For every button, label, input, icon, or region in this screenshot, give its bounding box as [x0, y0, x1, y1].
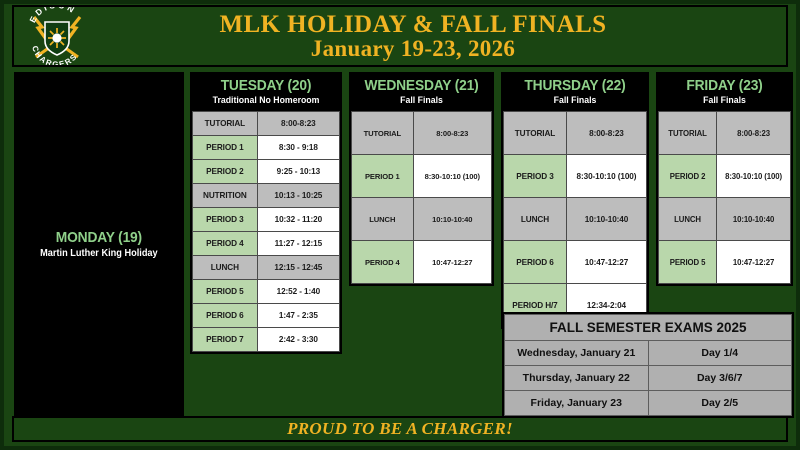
period-label: PERIOD 2 [659, 155, 717, 198]
period-time: 10:10-10:40 [413, 198, 491, 241]
period-label: PERIOD 2 [193, 160, 258, 184]
day-column-friday: FRIDAY (23) Fall Finals TUTORIAL8:00-8:2… [656, 72, 793, 286]
table-row: TUTORIAL8:00-8:23 [352, 112, 492, 155]
wednesday-note: Fall Finals [358, 95, 484, 106]
table-row: Thursday, January 22 Day 3/6/7 [505, 366, 792, 391]
period-time: 12:52 - 1:40 [257, 280, 339, 304]
wednesday-header: WEDNESDAY (21) Fall Finals [351, 74, 492, 111]
friday-day-label: FRIDAY (23) [665, 78, 784, 94]
exam-days: Day 2/5 [648, 391, 792, 416]
day-column-tuesday: TUESDAY (20) Traditional No Homeroom TUT… [190, 72, 342, 354]
table-row: TUTORIAL8:00-8:23 [659, 112, 791, 155]
period-time: 10:32 - 11:20 [257, 208, 339, 232]
tuesday-header: TUESDAY (20) Traditional No Homeroom [192, 74, 340, 111]
table-row: NUTRITION10:13 - 10:25 [193, 184, 340, 208]
period-time: 1:47 - 2:35 [257, 304, 339, 328]
period-label: PERIOD 6 [504, 241, 567, 284]
period-label: TUTORIAL [659, 112, 717, 155]
period-time: 10:47-12:27 [566, 241, 646, 284]
tuesday-note: Traditional No Homeroom [200, 95, 332, 106]
period-label: PERIOD 5 [193, 280, 258, 304]
tuesday-schedule-table: TUTORIAL8:00-8:23 PERIOD 18:30 - 9:18 PE… [192, 111, 340, 352]
exam-date: Thursday, January 22 [505, 366, 649, 391]
schedule-flyer: EDISON CHARGERS [0, 0, 800, 450]
page-title: MLK HOLIDAY & FALL FINALS [100, 12, 726, 38]
table-row: PERIOD 410:47-12:27 [352, 241, 492, 284]
table-row: PERIOD 29:25 - 10:13 [193, 160, 340, 184]
period-time: 12:15 - 12:45 [257, 256, 339, 280]
exams-title: FALL SEMESTER EXAMS 2025 [505, 315, 792, 341]
exam-date: Friday, January 23 [505, 391, 649, 416]
edison-chargers-shield-icon: EDISON CHARGERS [20, 7, 94, 65]
period-label: LUNCH [504, 198, 567, 241]
period-label: TUTORIAL [352, 112, 414, 155]
page-subtitle: January 19-23, 2026 [100, 37, 726, 60]
period-label: PERIOD 3 [193, 208, 258, 232]
table-row: PERIOD 510:47-12:27 [659, 241, 791, 284]
period-label: PERIOD 6 [193, 304, 258, 328]
table-row: LUNCH10:10-10:40 [659, 198, 791, 241]
exam-days: Day 1/4 [648, 341, 792, 366]
tuesday-day-label: TUESDAY (20) [200, 78, 332, 94]
period-time: 2:42 - 3:30 [257, 328, 339, 352]
period-time: 10:47-12:27 [717, 241, 791, 284]
friday-header: FRIDAY (23) Fall Finals [658, 74, 791, 111]
table-row: TUTORIAL8:00-8:23 [504, 112, 647, 155]
period-time: 10:10-10:40 [566, 198, 646, 241]
thursday-header: THURSDAY (22) Fall Finals [503, 74, 647, 111]
period-label: PERIOD 4 [352, 241, 414, 284]
table-row: PERIOD 61:47 - 2:35 [193, 304, 340, 328]
day-column-wednesday: WEDNESDAY (21) Fall Finals TUTORIAL8:00-… [349, 72, 494, 286]
period-label: PERIOD 3 [504, 155, 567, 198]
period-label: LUNCH [193, 256, 258, 280]
period-time: 10:13 - 10:25 [257, 184, 339, 208]
day-column-monday: MONDAY (19) Martin Luther King Holiday [14, 72, 184, 416]
period-time: 8:30-10:10 (100) [717, 155, 791, 198]
day-column-thursday: THURSDAY (22) Fall Finals TUTORIAL8:00-8… [501, 72, 649, 329]
period-time: 10:47-12:27 [413, 241, 491, 284]
wednesday-schedule-table: TUTORIAL8:00-8:23 PERIOD 18:30-10:10 (10… [351, 111, 492, 284]
table-row: PERIOD 310:32 - 11:20 [193, 208, 340, 232]
period-label: LUNCH [352, 198, 414, 241]
table-row: LUNCH12:15 - 12:45 [193, 256, 340, 280]
monday-note: Martin Luther King Holiday [40, 248, 158, 259]
table-row: PERIOD 28:30-10:10 (100) [659, 155, 791, 198]
exams-title-row: FALL SEMESTER EXAMS 2025 [505, 315, 792, 341]
exam-days: Day 3/6/7 [648, 366, 792, 391]
period-label: PERIOD 1 [352, 155, 414, 198]
table-row: Friday, January 23 Day 2/5 [505, 391, 792, 416]
period-label: NUTRITION [193, 184, 258, 208]
period-label: PERIOD 5 [659, 241, 717, 284]
header-banner: EDISON CHARGERS [12, 5, 788, 67]
header-title-block: MLK HOLIDAY & FALL FINALS January 19-23,… [100, 12, 786, 61]
table-row: LUNCH10:10-10:40 [504, 198, 647, 241]
friday-schedule-table: TUTORIAL8:00-8:23 PERIOD 28:30-10:10 (10… [658, 111, 791, 284]
period-time: 9:25 - 10:13 [257, 160, 339, 184]
friday-note: Fall Finals [665, 95, 784, 106]
period-time: 8:00-8:23 [413, 112, 491, 155]
period-time: 8:30-10:10 (100) [566, 155, 646, 198]
period-label: PERIOD 7 [193, 328, 258, 352]
monday-day-label: MONDAY (19) [40, 229, 158, 246]
period-time: 10:10-10:40 [717, 198, 791, 241]
school-logo: EDISON CHARGERS [14, 6, 100, 66]
table-row: PERIOD 18:30 - 9:18 [193, 136, 340, 160]
period-label: TUTORIAL [504, 112, 567, 155]
table-row: TUTORIAL8:00-8:23 [193, 112, 340, 136]
exam-date: Wednesday, January 21 [505, 341, 649, 366]
thursday-schedule-table: TUTORIAL8:00-8:23 PERIOD 38:30-10:10 (10… [503, 111, 647, 327]
table-row: LUNCH10:10-10:40 [352, 198, 492, 241]
period-label: PERIOD 4 [193, 232, 258, 256]
period-time: 8:00-8:23 [566, 112, 646, 155]
period-label: PERIOD 1 [193, 136, 258, 160]
period-time: 8:00-8:23 [717, 112, 791, 155]
footer-slogan: PROUD TO BE A CHARGER! [287, 419, 513, 439]
period-time: 11:27 - 12:15 [257, 232, 339, 256]
table-row: PERIOD 72:42 - 3:30 [193, 328, 340, 352]
fall-semester-exams-table: FALL SEMESTER EXAMS 2025 Wednesday, Janu… [502, 312, 794, 418]
table-row: PERIOD 18:30-10:10 (100) [352, 155, 492, 198]
table-row: PERIOD 610:47-12:27 [504, 241, 647, 284]
thursday-day-label: THURSDAY (22) [511, 78, 640, 94]
period-time: 8:30 - 9:18 [257, 136, 339, 160]
footer-banner: PROUD TO BE A CHARGER! [12, 416, 788, 442]
thursday-note: Fall Finals [511, 95, 640, 106]
table-row: PERIOD 411:27 - 12:15 [193, 232, 340, 256]
table-row: PERIOD 512:52 - 1:40 [193, 280, 340, 304]
table-row: PERIOD 38:30-10:10 (100) [504, 155, 647, 198]
table-row: Wednesday, January 21 Day 1/4 [505, 341, 792, 366]
period-label: LUNCH [659, 198, 717, 241]
period-time: 8:30-10:10 (100) [413, 155, 491, 198]
period-time: 8:00-8:23 [257, 112, 339, 136]
wednesday-day-label: WEDNESDAY (21) [358, 78, 484, 94]
period-label: TUTORIAL [193, 112, 258, 136]
